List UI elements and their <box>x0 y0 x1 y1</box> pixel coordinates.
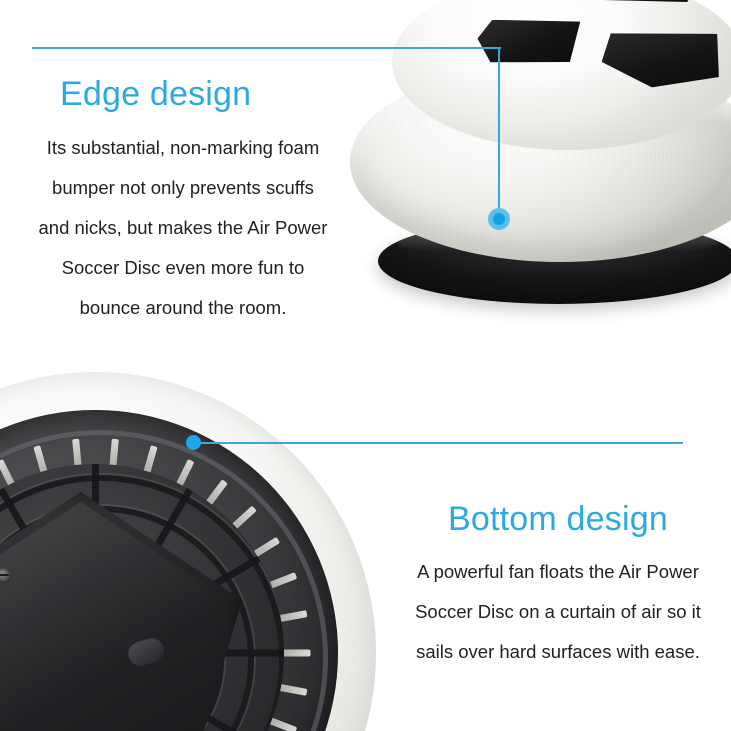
bottom-design-body-line: Soccer Disc on a curtain of air so it <box>388 592 728 632</box>
edge-design-body-line: and nicks, but makes the Air Power <box>18 208 348 248</box>
air-power-soccer-disc-underside-photo: MADE IN CHINA <box>0 372 376 731</box>
bottom-design-body-line: A powerful fan floats the Air Power <box>388 552 728 592</box>
callout-dot-edge <box>493 213 505 225</box>
callout-line-horizontal-edge <box>32 47 501 49</box>
disc-black-patch <box>476 11 585 72</box>
bottom-design-title: Bottom design <box>448 500 668 539</box>
callout-line-horizontal-bottom <box>194 442 683 444</box>
air-power-soccer-disc-side-photo <box>332 0 731 338</box>
underside-vent-slot <box>280 650 310 657</box>
product-feature-infographic: MADE IN CHINA Edge design Its substantia… <box>0 0 731 731</box>
edge-design-body-line: bumper not only prevents scuffs <box>18 168 348 208</box>
edge-design-body-line: Soccer Disc even more fun to <box>18 248 348 288</box>
edge-design-body-line: Its substantial, non-marking foam <box>18 128 348 168</box>
disc-black-patch <box>600 26 722 92</box>
callout-dot-bottom <box>186 435 201 450</box>
edge-design-title: Edge design <box>60 75 251 114</box>
bottom-design-body-line: sails over hard surfaces with ease. <box>388 632 728 672</box>
edge-design-body: Its substantial, non-marking foam bumper… <box>18 128 348 328</box>
disc-black-patch <box>564 0 704 2</box>
callout-line-vertical-edge <box>498 47 500 215</box>
bottom-design-body: A powerful fan floats the Air Power Socc… <box>388 552 728 672</box>
edge-design-body-line: bounce around the room. <box>18 288 348 328</box>
